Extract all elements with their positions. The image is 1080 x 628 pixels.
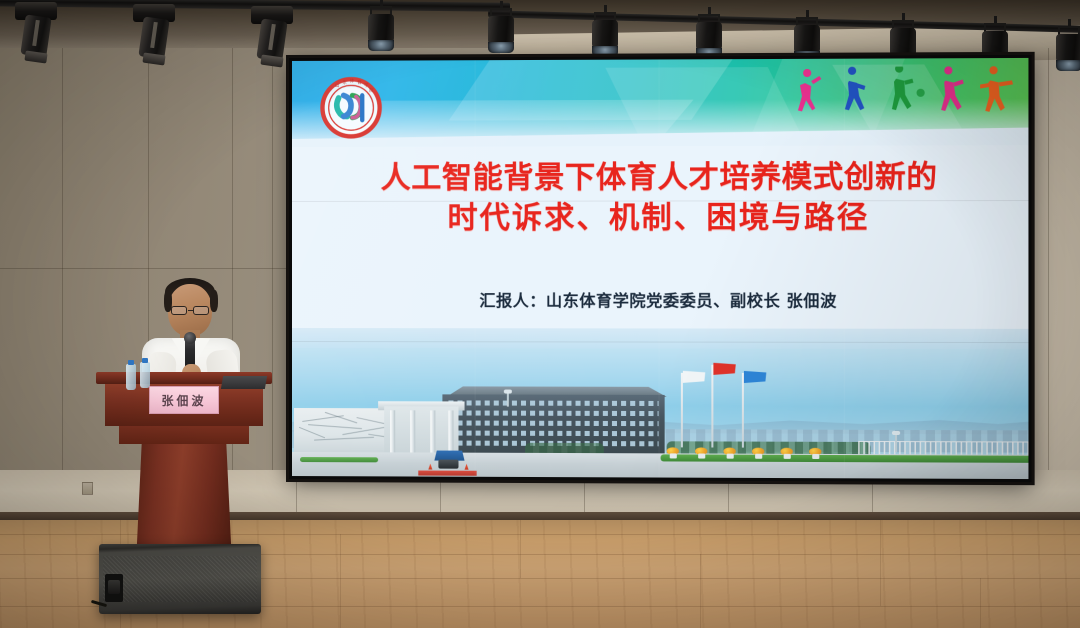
- athlete-runner: [892, 66, 925, 110]
- portico-column: [448, 410, 453, 454]
- service-cart: [438, 460, 458, 469]
- portico-column: [430, 410, 435, 454]
- speaker-handle-port: [105, 574, 123, 602]
- speaker-grille: [103, 556, 257, 602]
- lectern: 张佃波: [96, 372, 272, 572]
- athlete-basketball: [845, 67, 865, 111]
- athlete-gymnast: [980, 66, 1013, 112]
- conference-hall-scene: 山东体 育学院: [0, 0, 1080, 628]
- red-mat: [418, 471, 476, 476]
- slide-title-line1: 人工智能背景下体育人才培养模式创新的: [292, 157, 1028, 199]
- light-pole: [507, 393, 509, 407]
- campus-photo: [292, 328, 1028, 479]
- nameplate-text: 张佃波: [161, 392, 206, 409]
- flagpole-left: [681, 373, 683, 448]
- glasses-right-lens: [193, 306, 209, 315]
- microphone-head: [184, 332, 196, 344]
- flagpole-center: [711, 365, 713, 448]
- flagpole-right: [742, 373, 744, 448]
- wall-seam: [62, 48, 63, 518]
- glasses-left-lens: [171, 306, 187, 315]
- stage-light-moving-head: [6, 0, 66, 66]
- stage-light-par-can: [478, 8, 524, 58]
- entrance-portico: [384, 406, 458, 454]
- flower-planter: [667, 447, 679, 458]
- flower-planter: [752, 448, 764, 459]
- glasses-bridge: [188, 310, 193, 311]
- athlete-soccer: [941, 66, 964, 111]
- led-display-screen[interactable]: 山东体 育学院: [289, 55, 1032, 482]
- flag-blue: [744, 371, 766, 383]
- flower-planter: [809, 448, 821, 459]
- flag-white: [683, 371, 705, 383]
- slide-presenter-line: 汇报人：山东体育学院党委委员、副校长 张佃波: [292, 287, 1028, 312]
- wall-seam: [1048, 48, 1049, 518]
- flower-planter: [724, 448, 736, 459]
- flower-planter: [695, 447, 707, 458]
- slide-title: 人工智能背景下体育人才培养模式创新的 时代诉求、机制、困境与路径: [292, 157, 1028, 238]
- hedge-row: [300, 457, 378, 462]
- portico-column: [410, 410, 415, 454]
- stage-light-par-can: [1046, 26, 1080, 76]
- stage-monitor-speaker: [99, 544, 261, 614]
- light-pole: [895, 434, 897, 452]
- presentation-slide: 山东体 育学院: [292, 58, 1028, 479]
- water-bottle: [140, 362, 150, 388]
- stage-light-par-can: [358, 6, 404, 56]
- flower-planter: [781, 448, 793, 459]
- portico-column: [390, 410, 395, 454]
- wall-seam: [272, 48, 273, 518]
- stage-light-par-can: [582, 12, 628, 62]
- athlete-badminton: [798, 69, 821, 112]
- tree-line: [525, 443, 604, 453]
- university-logo: 山东体 育学院: [320, 77, 382, 139]
- athlete-silhouettes: [785, 66, 1021, 134]
- lectern-skirt: [119, 424, 249, 444]
- wall-seam: [0, 268, 290, 269]
- laptop-on-lectern: [221, 376, 267, 389]
- wall-power-outlet: [82, 482, 93, 495]
- speaker-nameplate: 张佃波: [149, 386, 219, 414]
- water-bottle: [126, 364, 136, 390]
- hair-side: [210, 290, 218, 312]
- slide-title-line2: 时代诉求、机制、困境与路径: [292, 198, 1028, 239]
- stage-light-moving-head: [124, 2, 184, 68]
- flag-red: [713, 363, 735, 375]
